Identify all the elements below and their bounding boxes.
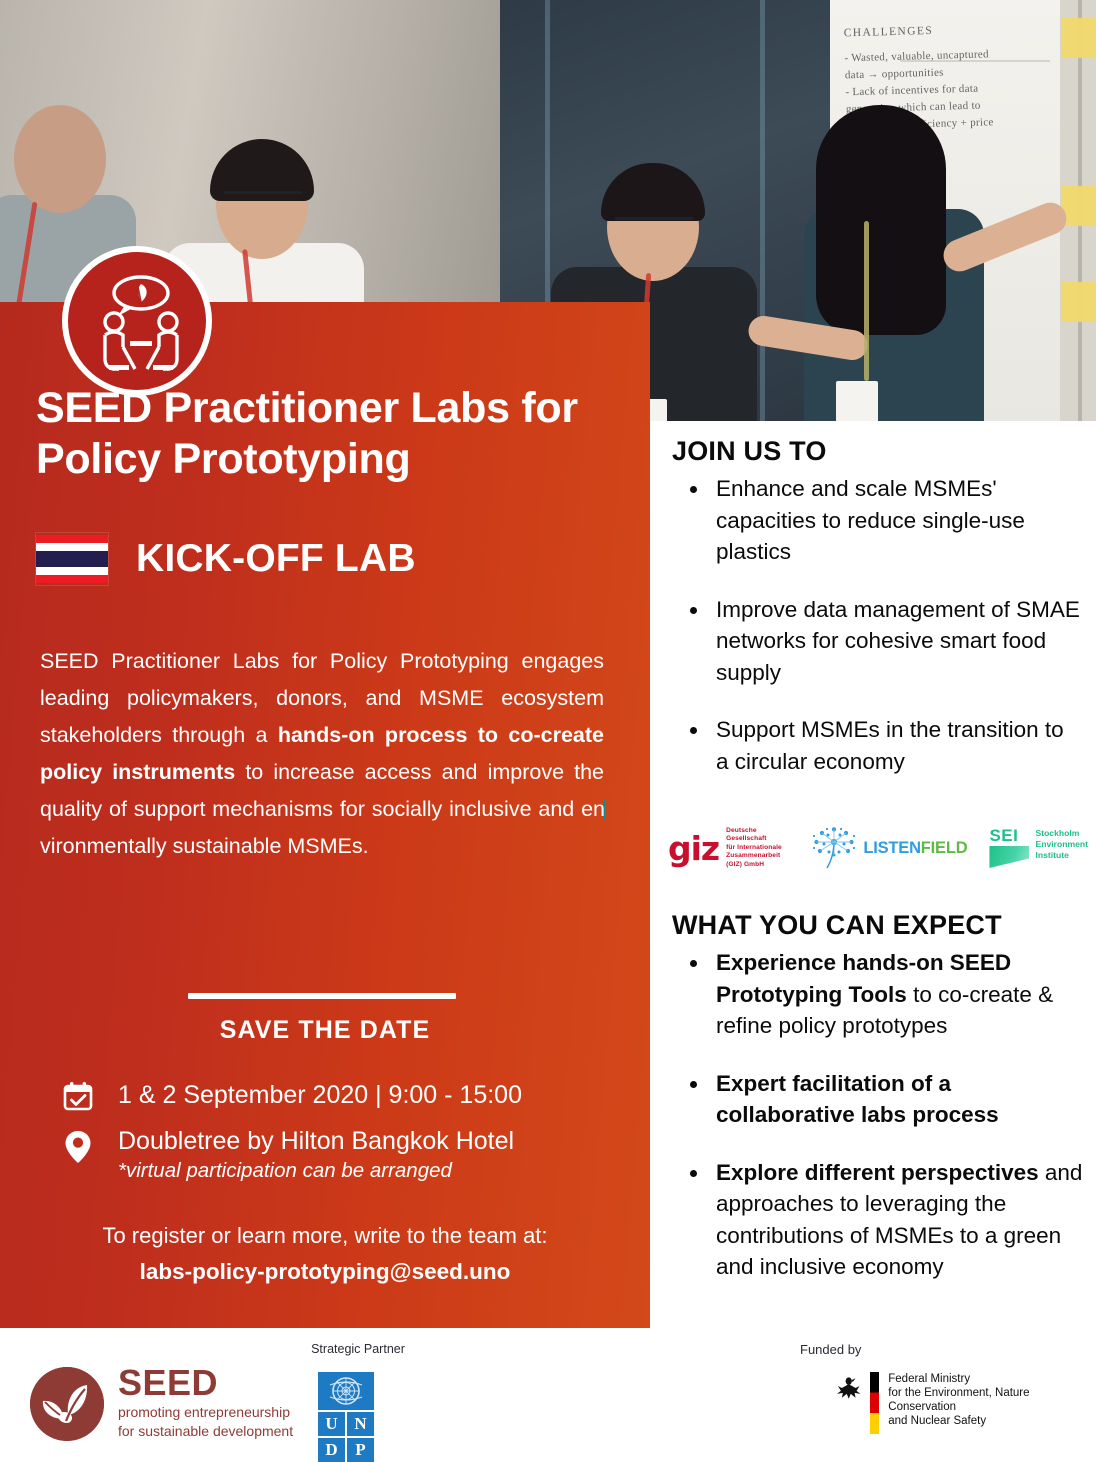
kickoff-row: KICK-OFF LAB [36, 533, 416, 585]
divider-rule [188, 993, 456, 999]
list-item: Support MSMEs in the transition to a cir… [672, 714, 1082, 777]
join-us-list: Enhance and scale MSMEs' capacities to r… [672, 473, 1082, 777]
sei-line-3: Institute [1035, 850, 1088, 861]
map-pin-icon [62, 1126, 98, 1170]
save-the-date-heading: SAVE THE DATE [0, 1016, 650, 1045]
expect-list: Experience hands-on SEED Prototyping Too… [672, 947, 1084, 1283]
calendar-check-icon [62, 1078, 98, 1118]
what-to-expect-section: WHAT YOU CAN EXPECT Experience hands-on … [672, 910, 1084, 1309]
sei-wordmark: SEI [989, 828, 1029, 844]
bmu-line-3: and Nuclear Safety [888, 1414, 1096, 1428]
flipchart-line: - Wasted, valuable, uncaptured [844, 48, 989, 64]
listenfield-part-1: LISTEN [863, 839, 920, 857]
seed-tagline: promoting entrepreneurship for sustainab… [118, 1403, 293, 1441]
giz-line-2: für Internationale [726, 844, 789, 853]
sei-triangle-icon [989, 846, 1029, 868]
glass-mullion [760, 0, 765, 421]
un-emblem-icon [318, 1372, 374, 1410]
dandelion-network-icon [811, 826, 857, 870]
list-item: Improve data management of SMAE networks… [672, 594, 1082, 689]
seed-tagline-line-2: for sustainable development [118, 1422, 293, 1441]
undp-letter: N [347, 1412, 374, 1436]
undp-letter: U [318, 1412, 345, 1436]
giz-wordmark: giz [668, 832, 719, 865]
flipchart-line: data → opportunities [845, 67, 944, 82]
thailand-flag [36, 533, 108, 585]
seed-tagline-line-1: promoting entrepreneurship [118, 1403, 293, 1422]
partner-logo-row: giz Deutsche Gesellschaft für Internatio… [668, 818, 1088, 878]
join-us-section: JOIN US TO Enhance and scale MSMEs' capa… [672, 436, 1082, 803]
giz-descriptor: Deutsche Gesellschaft für Internationale… [726, 827, 789, 870]
undp-letter: D [318, 1438, 345, 1462]
strategic-partner-label: Strategic Partner [258, 1342, 458, 1356]
sei-line-1: Stockholm [1035, 828, 1088, 839]
undp-logo: U N D P [318, 1372, 374, 1462]
list-item: Enhance and scale MSMEs' capacities to r… [672, 473, 1082, 568]
seed-logo: SEED promoting entrepreneurship for sust… [30, 1366, 293, 1441]
sei-descriptor: Stockholm Environment Institute [1035, 828, 1088, 861]
listenfield-wordmark: LISTENFIELD [863, 839, 967, 858]
event-date-row: 1 & 2 September 2020 | 9:00 - 15:00 [62, 1078, 622, 1118]
kickoff-label: KICK-OFF LAB [136, 537, 416, 581]
list-item-bold: Expert facilitation of a collaborative l… [716, 1071, 999, 1128]
listenfield-part-2: FIELD [921, 839, 968, 857]
undp-letter: P [347, 1438, 374, 1462]
giz-logo: giz Deutsche Gesellschaft für Internatio… [668, 827, 789, 870]
german-eagle-icon [836, 1372, 861, 1402]
listenfield-logo: LISTENFIELD [811, 826, 967, 870]
page-title: SEED Practitioner Labs for Policy Protot… [36, 383, 636, 485]
seed-sprout-icon [30, 1367, 104, 1441]
expect-heading: WHAT YOU CAN EXPECT [672, 910, 1084, 941]
event-venue: Doubletree by Hilton Bangkok Hotel [118, 1126, 514, 1157]
funded-by-label: Funded by [800, 1342, 861, 1357]
people-at-table-leaf-idea-icon [62, 246, 212, 396]
undp-letter-grid: U N D P [318, 1412, 374, 1462]
photo-person-4 [790, 91, 1040, 421]
giz-line-3: Zusammenarbeit (GIZ) GmbH [726, 852, 789, 869]
seed-wordmark-block: SEED promoting entrepreneurship for sust… [118, 1366, 293, 1441]
event-venue-row: Doubletree by Hilton Bangkok Hotel *virt… [62, 1126, 622, 1185]
text-caret-artifact [604, 799, 605, 819]
list-item: Explore different perspectives and appro… [672, 1157, 1084, 1283]
sei-mark: SEI [989, 828, 1029, 868]
sei-logo: SEI Stockholm Environment Institute [989, 828, 1088, 868]
list-item: Expert facilitation of a collaborative l… [672, 1068, 1084, 1131]
german-flag-bar [870, 1372, 879, 1434]
bmu-line-2: for the Environment, Nature Conservation [888, 1386, 1096, 1414]
join-us-heading: JOIN US TO [672, 436, 1082, 467]
bmu-logo: Federal Ministry for the Environment, Na… [836, 1372, 1096, 1434]
sei-line-2: Environment [1035, 839, 1088, 850]
giz-line-1: Deutsche Gesellschaft [726, 827, 789, 844]
seed-wordmark: SEED [118, 1366, 293, 1400]
event-info-block: 1 & 2 September 2020 | 9:00 - 15:00 Doub… [62, 1078, 622, 1193]
register-text: To register or learn more, write to the … [0, 1218, 650, 1254]
register-block: To register or learn more, write to the … [0, 1218, 650, 1290]
list-item: Experience hands-on SEED Prototyping Too… [672, 947, 1084, 1042]
sticky-note [1062, 186, 1096, 226]
virtual-note: *virtual participation can be arranged [118, 1157, 514, 1185]
event-date: 1 & 2 September 2020 | 9:00 - 15:00 [118, 1078, 522, 1112]
list-item-bold: Explore different perspectives [716, 1160, 1039, 1185]
para-part-3: vironmentally sustainable MSMEs. [40, 834, 369, 858]
bmu-descriptor: Federal Ministry for the Environment, Na… [888, 1372, 1096, 1428]
sticky-note [1062, 282, 1096, 322]
bmu-line-1: Federal Ministry [888, 1372, 1096, 1386]
intro-paragraph: SEED Practitioner Labs for Policy Protot… [40, 643, 604, 865]
footer: Strategic Partner Funded by SEED promoti… [0, 1328, 1096, 1454]
register-email-link[interactable]: labs-policy-prototyping@seed.uno [140, 1259, 511, 1284]
